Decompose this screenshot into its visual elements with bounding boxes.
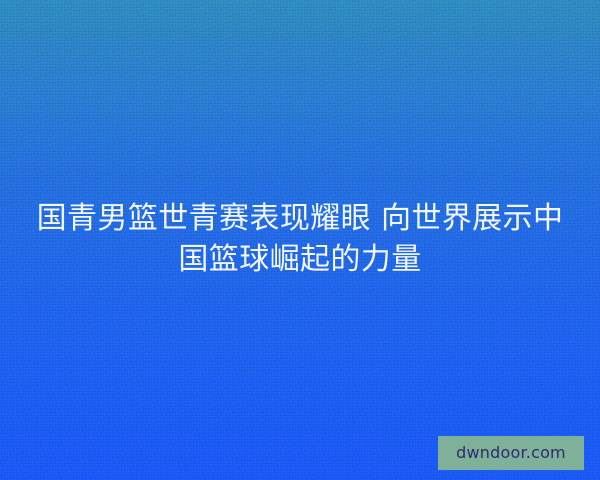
- headline-line-2: 国篮球崛起的力量: [22, 239, 578, 280]
- headline-line-1: 国青男篮世青赛表现耀眼 向世界展示中: [22, 198, 578, 239]
- headline: 国青男篮世青赛表现耀眼 向世界展示中 国篮球崛起的力量: [0, 198, 600, 280]
- watermark-label: dwndoor.com: [456, 445, 566, 461]
- watermark-badge: dwndoor.com: [438, 436, 584, 470]
- article-banner: 国青男篮世青赛表现耀眼 向世界展示中 国篮球崛起的力量 dwndoor.com: [0, 0, 600, 480]
